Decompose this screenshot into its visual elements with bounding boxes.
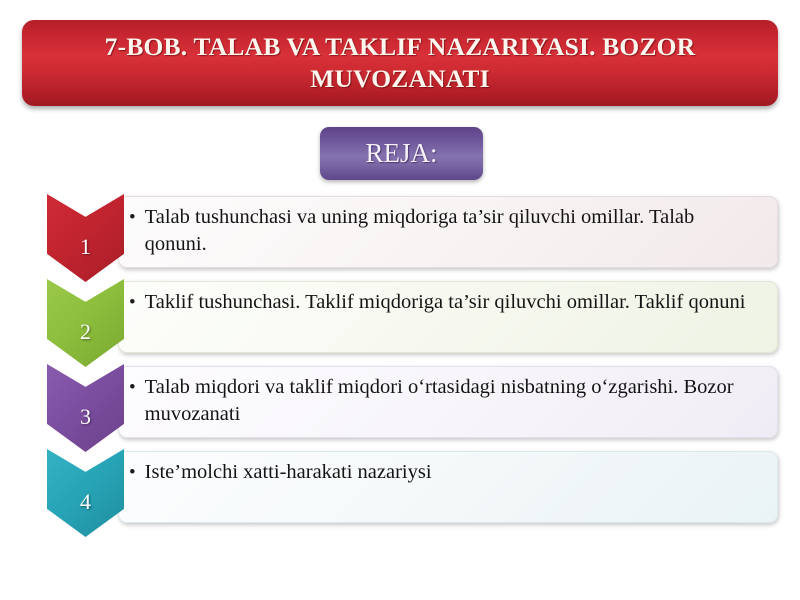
bullet-icon: • — [127, 373, 145, 400]
agenda-number-2: 2 — [80, 303, 91, 343]
agenda-card-3[interactable]: • Talab miqdori va taklif miqdori o‘rtas… — [118, 366, 778, 438]
list-item[interactable]: • Talab miqdori va taklif miqdori o‘rtas… — [0, 364, 800, 449]
section-label-badge: REJA: — [320, 127, 483, 180]
bullet-icon: • — [127, 288, 145, 315]
chevron-down-icon-3[interactable]: 3 — [47, 364, 124, 452]
list-item[interactable]: • Iste’molchi xatti-harakati nazariysi 4 — [0, 449, 800, 544]
agenda-number-1: 1 — [80, 218, 91, 258]
agenda-text-1: Talab tushunchasi va uning miqdoriga ta’… — [145, 203, 761, 259]
agenda-text-2: Taklif tushunchasi. Taklif miqdoriga ta’… — [145, 288, 761, 316]
list-item[interactable]: • Taklif tushunchasi. Taklif miqdoriga t… — [0, 279, 800, 364]
agenda-number-4: 4 — [80, 473, 91, 513]
slide-title-banner: 7-BOB. TALAB VA TAKLIF NAZARIYASI. BOZOR… — [22, 20, 778, 106]
page-title: 7-BOB. TALAB VA TAKLIF NAZARIYASI. BOZOR… — [22, 31, 778, 94]
agenda-card-4[interactable]: • Iste’molchi xatti-harakati nazariysi — [118, 451, 778, 523]
agenda-text-3: Talab miqdori va taklif miqdori o‘rtasid… — [145, 373, 761, 429]
section-label-text: REJA: — [365, 140, 437, 167]
bullet-icon: • — [127, 203, 145, 230]
chevron-down-icon-1[interactable]: 1 — [47, 194, 124, 282]
chevron-down-icon-2[interactable]: 2 — [47, 279, 124, 367]
agenda-card-2[interactable]: • Taklif tushunchasi. Taklif miqdoriga t… — [118, 281, 778, 353]
chevron-down-icon-4[interactable]: 4 — [47, 449, 124, 537]
bullet-icon: • — [127, 458, 145, 485]
agenda-number-3: 3 — [80, 388, 91, 428]
agenda-list: • Talab tushunchasi va uning miqdoriga t… — [0, 194, 800, 544]
agenda-card-1[interactable]: • Talab tushunchasi va uning miqdoriga t… — [118, 196, 778, 268]
agenda-text-4: Iste’molchi xatti-harakati nazariysi — [145, 458, 761, 486]
list-item[interactable]: • Talab tushunchasi va uning miqdoriga t… — [0, 194, 800, 279]
